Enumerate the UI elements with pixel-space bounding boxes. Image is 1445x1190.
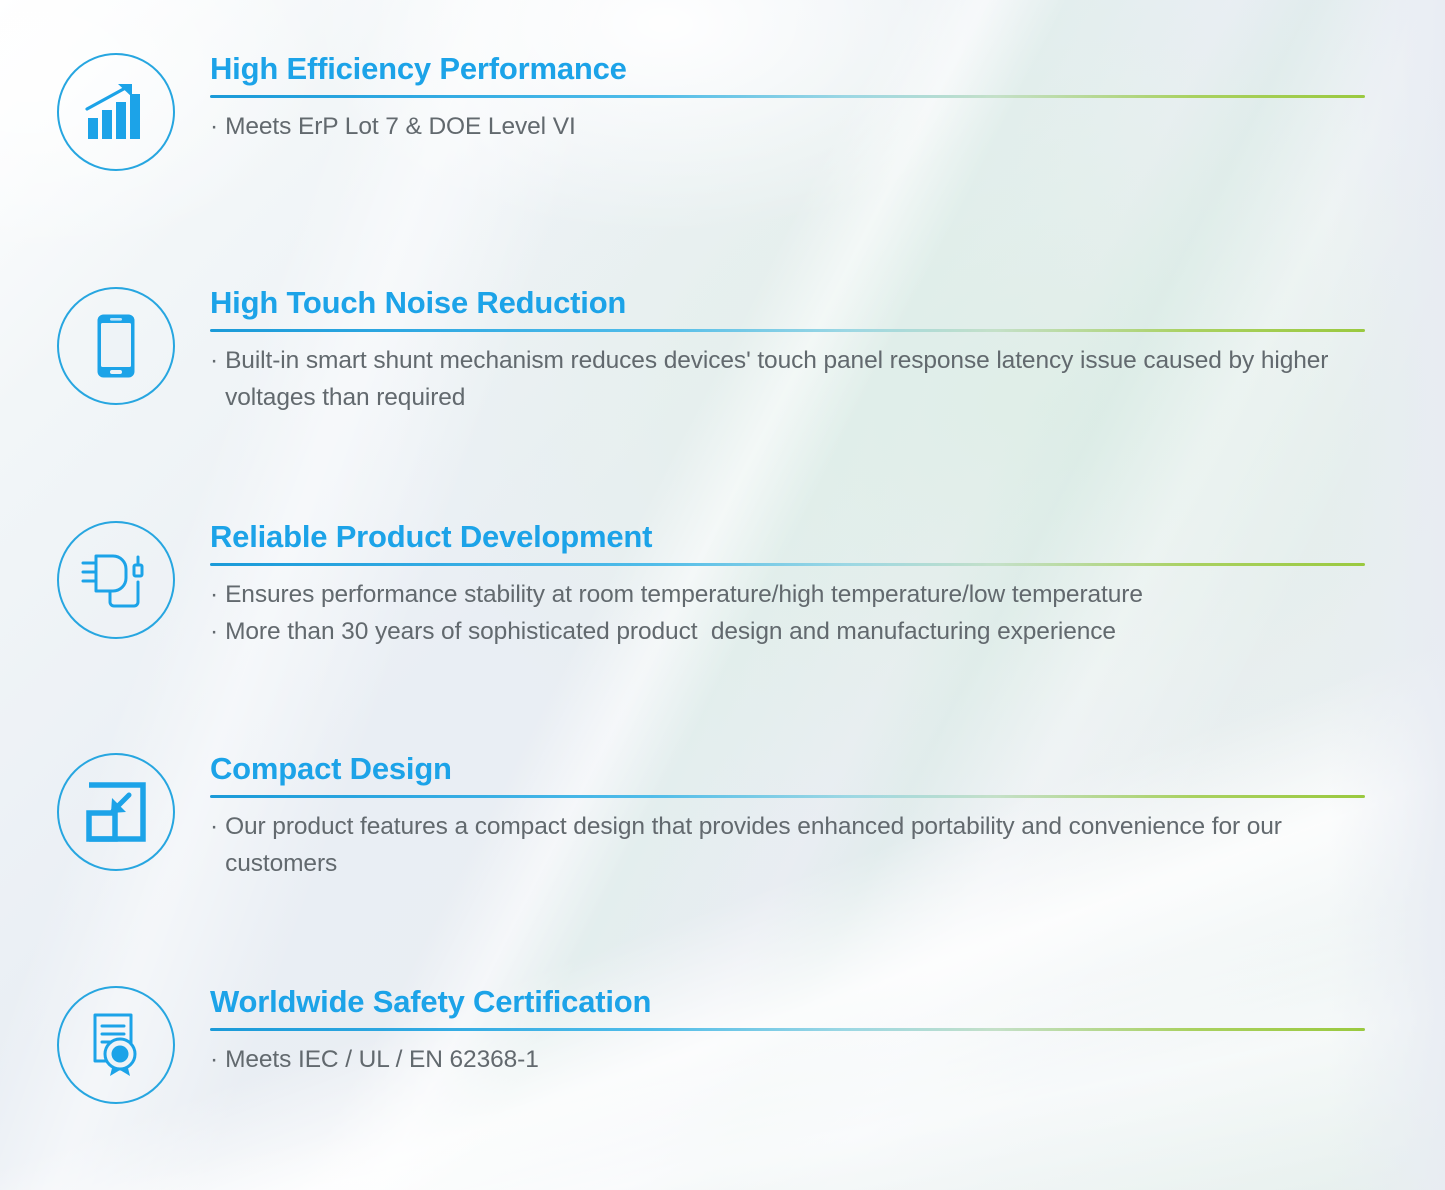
- bullet-text: Meets ErP Lot 7 & DOE Level VI: [225, 108, 576, 145]
- feature-icon-worldwide-safety-certification: [56, 985, 176, 1105]
- feature-divider: [210, 795, 1365, 798]
- feature-divider: [210, 329, 1365, 332]
- bullet-item: · Meets IEC / UL / EN 62368-1: [210, 1041, 1365, 1078]
- feature-title: High Touch Noise Reduction: [210, 286, 1365, 320]
- feature-bullets: · Meets ErP Lot 7 & DOE Level VI: [210, 108, 1365, 145]
- feature-block-high-touch-noise-reduction: High Touch Noise Reduction · Built-in sm…: [210, 286, 1365, 417]
- icon-circle: [57, 753, 175, 871]
- bar-chart-growth-icon: [85, 82, 147, 142]
- power-adapter-icon: [79, 549, 153, 611]
- feature-block-reliable-product-development: Reliable Product Development · Ensures p…: [210, 520, 1365, 651]
- feature-icon-reliable-product-development: [56, 520, 176, 640]
- compact-resize-icon: [85, 781, 147, 843]
- bullet-marker: ·: [210, 108, 218, 145]
- feature-icon-high-touch-noise-reduction: [56, 286, 176, 406]
- bullet-text: Built-in smart shunt mechanism reduces d…: [225, 342, 1365, 416]
- bullet-item: · Meets ErP Lot 7 & DOE Level VI: [210, 108, 1365, 145]
- feature-block-compact-design: Compact Design · Our product features a …: [210, 752, 1365, 883]
- icon-circle: [57, 53, 175, 171]
- feature-icon-compact-design: [56, 752, 176, 872]
- feature-title: Reliable Product Development: [210, 520, 1365, 554]
- bullet-text: Our product features a compact design th…: [225, 808, 1365, 882]
- smartphone-icon: [96, 313, 136, 379]
- feature-bullets: · Our product features a compact design …: [210, 808, 1365, 882]
- bullet-marker: ·: [210, 808, 218, 845]
- feature-block-high-efficiency-performance: High Efficiency Performance · Meets ErP …: [210, 52, 1365, 145]
- icon-circle: [57, 287, 175, 405]
- feature-title: Worldwide Safety Certification: [210, 985, 1365, 1019]
- bullet-text: Ensures performance stability at room te…: [225, 576, 1143, 613]
- certificate-award-icon: [87, 1012, 145, 1078]
- bullet-item: · Built-in smart shunt mechanism reduces…: [210, 342, 1365, 416]
- feature-title: High Efficiency Performance: [210, 52, 1365, 86]
- icon-circle: [57, 521, 175, 639]
- feature-divider: [210, 1028, 1365, 1031]
- bullet-text: Meets IEC / UL / EN 62368-1: [225, 1041, 539, 1078]
- feature-block-worldwide-safety-certification: Worldwide Safety Certification · Meets I…: [210, 985, 1365, 1078]
- feature-divider: [210, 95, 1365, 98]
- feature-list: High Efficiency Performance · Meets ErP …: [0, 0, 1445, 1190]
- bullet-item: · More than 30 years of sophisticated pr…: [210, 613, 1365, 650]
- feature-divider: [210, 563, 1365, 566]
- bullet-item: · Ensures performance stability at room …: [210, 576, 1365, 613]
- feature-bullets: · Meets IEC / UL / EN 62368-1: [210, 1041, 1365, 1078]
- bullet-marker: ·: [210, 613, 218, 650]
- icon-circle: [57, 986, 175, 1104]
- feature-bullets: · Built-in smart shunt mechanism reduces…: [210, 342, 1365, 416]
- bullet-item: · Our product features a compact design …: [210, 808, 1365, 882]
- feature-bullets: · Ensures performance stability at room …: [210, 576, 1365, 650]
- feature-highlights-page: High Efficiency Performance · Meets ErP …: [0, 0, 1445, 1190]
- bullet-text: More than 30 years of sophisticated prod…: [225, 613, 1116, 650]
- feature-title: Compact Design: [210, 752, 1365, 786]
- bullet-marker: ·: [210, 1041, 218, 1078]
- bullet-marker: ·: [210, 342, 218, 379]
- feature-icon-high-efficiency-performance: [56, 52, 176, 172]
- bullet-marker: ·: [210, 576, 218, 613]
